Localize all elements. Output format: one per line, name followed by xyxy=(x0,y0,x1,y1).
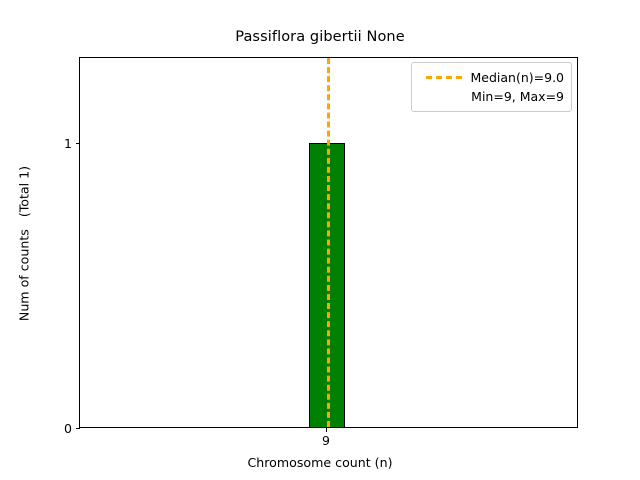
xtick-mark-9 xyxy=(326,428,327,432)
chart-figure: Passiflora gibertii None 0 1 9 Chromosom… xyxy=(0,0,640,480)
xtick-label-9: 9 xyxy=(296,433,356,448)
legend[interactable]: Median(n)=9.0 Min=9, Max=9 xyxy=(411,62,572,112)
y-axis-label: Num of counts (Total 1) xyxy=(17,64,32,424)
legend-entry-median: Median(n)=9.0 xyxy=(419,68,564,87)
legend-label-median: Median(n)=9.0 xyxy=(471,70,565,85)
page-title: Passiflora gibertii None xyxy=(0,29,640,45)
plot-area xyxy=(79,57,578,428)
ytick-mark-0 xyxy=(76,428,80,429)
legend-entry-minmax: Min=9, Max=9 xyxy=(419,87,564,105)
dashed-line-icon xyxy=(426,76,462,79)
median-line xyxy=(327,58,330,427)
y-axis-label-wrap: Num of counts (Total 1) xyxy=(0,0,50,480)
ytick-mark-1 xyxy=(76,143,80,144)
x-axis-label: Chromosome count (n) xyxy=(0,455,640,470)
legend-label-minmax: Min=9, Max=9 xyxy=(471,89,564,104)
